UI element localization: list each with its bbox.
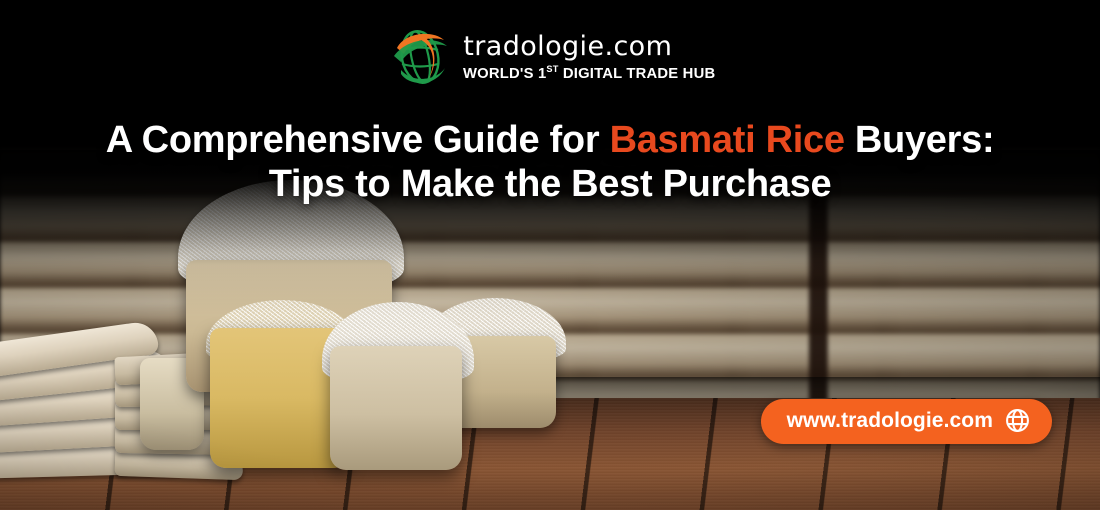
- headline-line-2: Tips to Make the Best Purchase: [0, 162, 1100, 206]
- website-cta-button[interactable]: www.tradologie.com: [761, 399, 1052, 444]
- page-title: A Comprehensive Guide for Basmati Rice B…: [0, 118, 1100, 206]
- headline-line1-part1: A Comprehensive Guide for: [106, 119, 610, 161]
- brand-name: tradologie.com: [463, 33, 710, 60]
- tagline-superscript: ST: [547, 64, 559, 74]
- headline-line-1: A Comprehensive Guide for Basmati Rice B…: [0, 118, 1100, 162]
- brand-tagline: WORLD'S 1ST DIGITAL TRADE HUB: [463, 65, 715, 81]
- tagline-rest: DIGITAL TRADE HUB: [559, 66, 716, 82]
- headline-highlight: Basmati Rice: [610, 119, 845, 161]
- brand-logo-text: tradologie.com WORLD'S 1ST DIGITAL TRADE…: [463, 33, 710, 81]
- cta-label: www.tradologie.com: [787, 409, 993, 433]
- globe-swoosh-logo-icon: [389, 26, 451, 88]
- banner-content: tradologie.com WORLD'S 1ST DIGITAL TRADE…: [0, 0, 1100, 510]
- promo-banner: tradologie.com WORLD'S 1ST DIGITAL TRADE…: [0, 0, 1100, 510]
- headline-line1-part2: Buyers:: [845, 119, 995, 161]
- tagline-main: WORLD'S 1: [463, 66, 546, 82]
- globe-icon: [1005, 408, 1030, 433]
- brand-logo[interactable]: tradologie.com WORLD'S 1ST DIGITAL TRADE…: [0, 26, 1100, 88]
